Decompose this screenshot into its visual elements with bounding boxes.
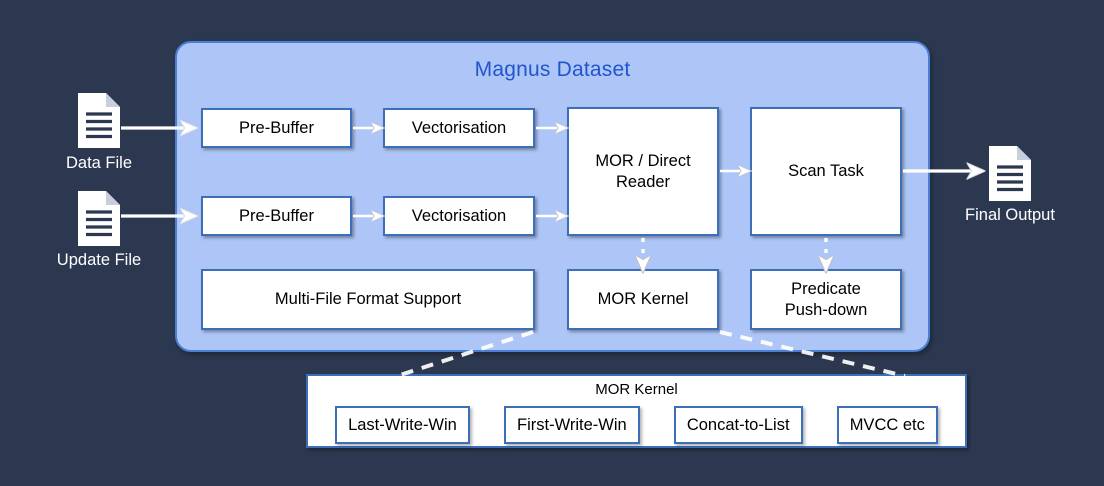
- predicate-line-2: Push-down: [785, 300, 868, 320]
- file-icon: [988, 145, 1032, 202]
- vectorisation-box-2: Vectorisation: [383, 196, 535, 236]
- final-output-icon-wrap: [988, 145, 1032, 207]
- vectorisation-box-1: Vectorisation: [383, 108, 535, 148]
- diagram-canvas: Magnus Dataset Data File Update: [0, 0, 1104, 486]
- reader-line-1: MOR / Direct: [595, 151, 690, 171]
- update-file-icon-wrap: [77, 190, 121, 252]
- pre-buffer-box-1: Pre-Buffer: [201, 108, 352, 148]
- predicate-line-1: Predicate: [791, 279, 861, 299]
- detail-panel-title: MOR Kernel: [308, 381, 965, 398]
- detail-chip-row: Last-Write-Win First-Write-Win Concat-to…: [308, 404, 965, 446]
- chip-concat-to-list: Concat-to-List: [674, 406, 803, 444]
- mor-kernel-box: MOR Kernel: [567, 269, 719, 330]
- reader-line-2: Reader: [616, 172, 670, 192]
- chip-last-write-win: Last-Write-Win: [335, 406, 470, 444]
- file-icon: [77, 190, 121, 247]
- chip-first-write-win: First-Write-Win: [504, 406, 640, 444]
- final-output-label: Final Output: [930, 206, 1090, 225]
- data-file-label: Data File: [27, 154, 171, 173]
- predicate-push-down-box: Predicate Push-down: [750, 269, 902, 330]
- chip-mvcc-etc: MVCC etc: [837, 406, 938, 444]
- multi-file-format-support-box: Multi-File Format Support: [201, 269, 535, 330]
- file-icon: [77, 92, 121, 149]
- update-file-label: Update File: [19, 251, 179, 270]
- scan-task-box: Scan Task: [750, 107, 902, 236]
- mor-direct-reader-box: MOR / Direct Reader: [567, 107, 719, 236]
- container-title: Magnus Dataset: [175, 58, 930, 82]
- data-file-icon-wrap: [77, 92, 121, 154]
- pre-buffer-box-2: Pre-Buffer: [201, 196, 352, 236]
- mor-kernel-detail-panel: MOR Kernel Last-Write-Win First-Write-Wi…: [306, 374, 967, 448]
